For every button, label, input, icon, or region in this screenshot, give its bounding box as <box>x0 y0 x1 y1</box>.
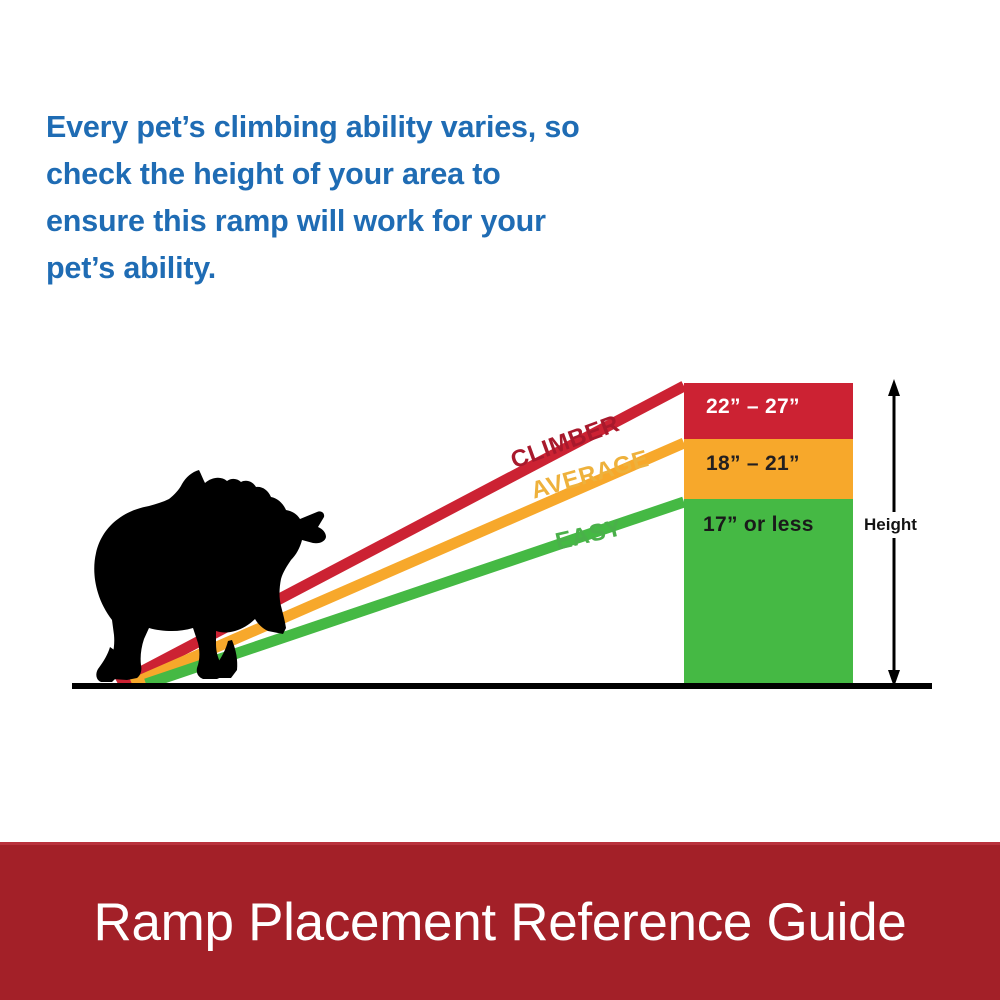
bar-label-average: 18” – 21” <box>706 452 800 476</box>
footer-banner: Ramp Placement Reference Guide <box>0 842 1000 1000</box>
ground-line <box>72 683 932 689</box>
height-axis-label: Height <box>862 512 919 538</box>
banner-title: Ramp Placement Reference Guide <box>0 845 1000 1000</box>
dog-silhouette-icon <box>94 470 326 682</box>
bar-label-climber: 22” – 27” <box>706 395 800 419</box>
bar-label-easy: 17” or less <box>703 513 814 537</box>
ramp-diagram <box>0 0 1000 840</box>
infographic-page: Every pet’s climbing ability varies, so … <box>0 0 1000 1000</box>
